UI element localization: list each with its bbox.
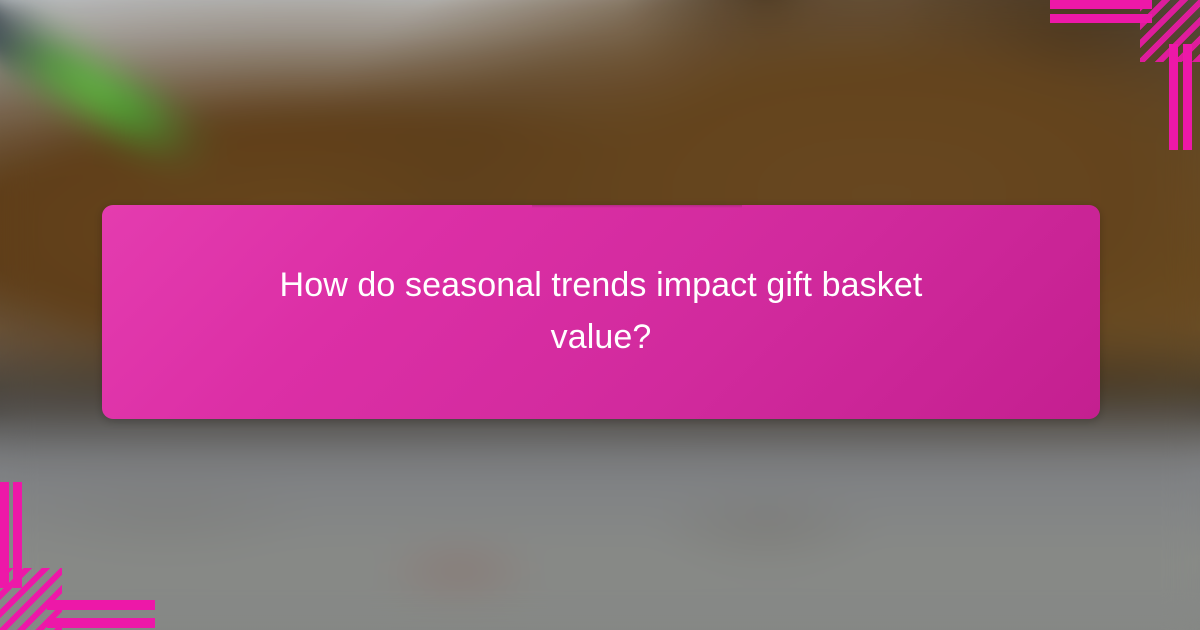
corner-stripes-top-right <box>1030 0 1200 150</box>
decor-hatch-pattern <box>1140 0 1200 62</box>
corner-stripes-bottom-left <box>0 475 175 630</box>
banner-top-notch <box>532 205 742 208</box>
decor-bar-horizontal <box>47 600 155 610</box>
decor-bar-horizontal <box>1050 14 1152 23</box>
decor-bar-horizontal <box>1050 0 1152 9</box>
social-card: How do seasonal trends impact gift baske… <box>0 0 1200 630</box>
page-title: How do seasonal trends impact gift baske… <box>174 260 1028 363</box>
decor-hatch-pattern <box>0 568 62 630</box>
title-banner: How do seasonal trends impact gift baske… <box>102 205 1100 419</box>
decor-bar-horizontal <box>47 618 155 628</box>
